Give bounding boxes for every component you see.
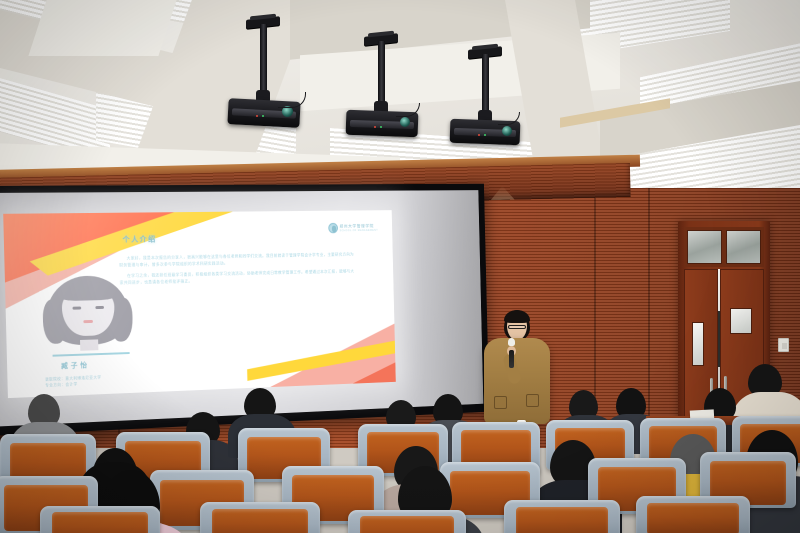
door-window <box>692 322 704 366</box>
lecture-hall-photo: 个人介绍 郑州大学管理学院 SCHOOL OF MANAGEMENT 大家好，我… <box>0 0 800 533</box>
presenter-glasses <box>508 325 526 329</box>
slide-paragraph: 在学习之余，我还担任班级学习委员，积极组织各类学习交流活动，协助老师完成日常教学… <box>119 267 357 285</box>
slide-title: 个人介绍 <box>122 234 156 245</box>
university-seal-icon <box>328 223 338 233</box>
presentation-slide: 个人介绍 郑州大学管理学院 SCHOOL OF MANAGEMENT 大家好，我… <box>4 210 397 398</box>
coat-pocket <box>494 396 507 409</box>
door-window <box>730 308 752 334</box>
presenter-bangs <box>504 310 530 323</box>
university-logo-subtext: SCHOOL OF MANAGEMENT <box>340 229 378 232</box>
avatar <box>40 274 135 349</box>
seat[interactable] <box>348 510 466 533</box>
seat[interactable] <box>200 502 320 533</box>
seat[interactable] <box>40 506 160 533</box>
seat[interactable] <box>504 500 620 533</box>
meta-line: 专业方向：会计学 <box>45 381 101 390</box>
light-switch[interactable] <box>778 338 789 352</box>
presenter-meta: 录取院校：意大利博洛尼亚大学 专业方向：会计学 <box>45 374 102 389</box>
microphone-head <box>508 338 515 346</box>
coat-pocket <box>526 394 539 407</box>
door-transom-glass <box>684 227 764 267</box>
slide-paragraph: 大家好，我是本次报告的分享人，很高兴能够在这里与各位老师和同学们交流。我目前就读… <box>119 250 357 268</box>
slide-body-text: 大家好，我是本次报告的分享人，很高兴能够在这里与各位老师和同学们交流。我目前就读… <box>119 250 357 289</box>
university-logo: 郑州大学管理学院 SCHOOL OF MANAGEMENT <box>328 222 378 233</box>
microphone[interactable] <box>509 350 514 368</box>
presenter-name: 臧子怡 <box>61 360 90 371</box>
name-divider <box>53 352 130 356</box>
seat[interactable] <box>636 496 750 533</box>
